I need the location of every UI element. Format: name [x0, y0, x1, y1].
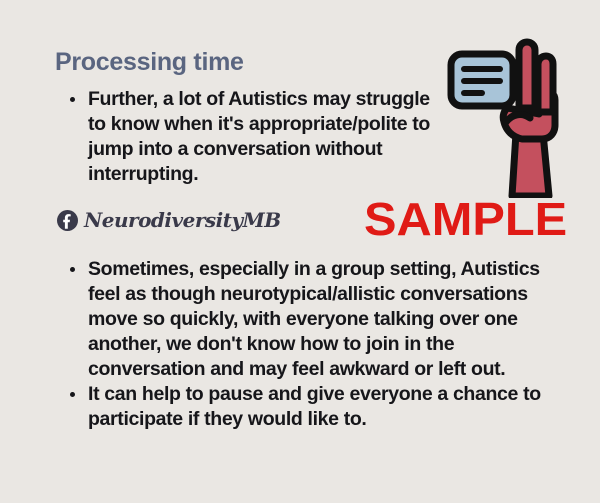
- facebook-icon: [57, 210, 78, 231]
- page-title: Processing time: [55, 48, 244, 77]
- slide-canvas: Processing time Further, a lot of Autist…: [0, 0, 600, 503]
- list-item: Sometimes, especially in a group setting…: [63, 257, 563, 382]
- sample-watermark: SAMPLE: [364, 196, 567, 242]
- bottom-bullet-list: Sometimes, especially in a group setting…: [63, 257, 563, 432]
- brand-handle[interactable]: NeurodiversityMB: [57, 208, 281, 232]
- brand-handle-text: NeurodiversityMB: [84, 208, 281, 232]
- list-item: Further, a lot of Autistics may struggle…: [63, 87, 433, 187]
- speech-bubble-icon: [451, 54, 524, 106]
- top-bullet-list: Further, a lot of Autistics may struggle…: [63, 87, 433, 187]
- raised-hand-with-speech-bubble-illustration: [446, 38, 586, 198]
- list-item: It can help to pause and give everyone a…: [63, 382, 563, 432]
